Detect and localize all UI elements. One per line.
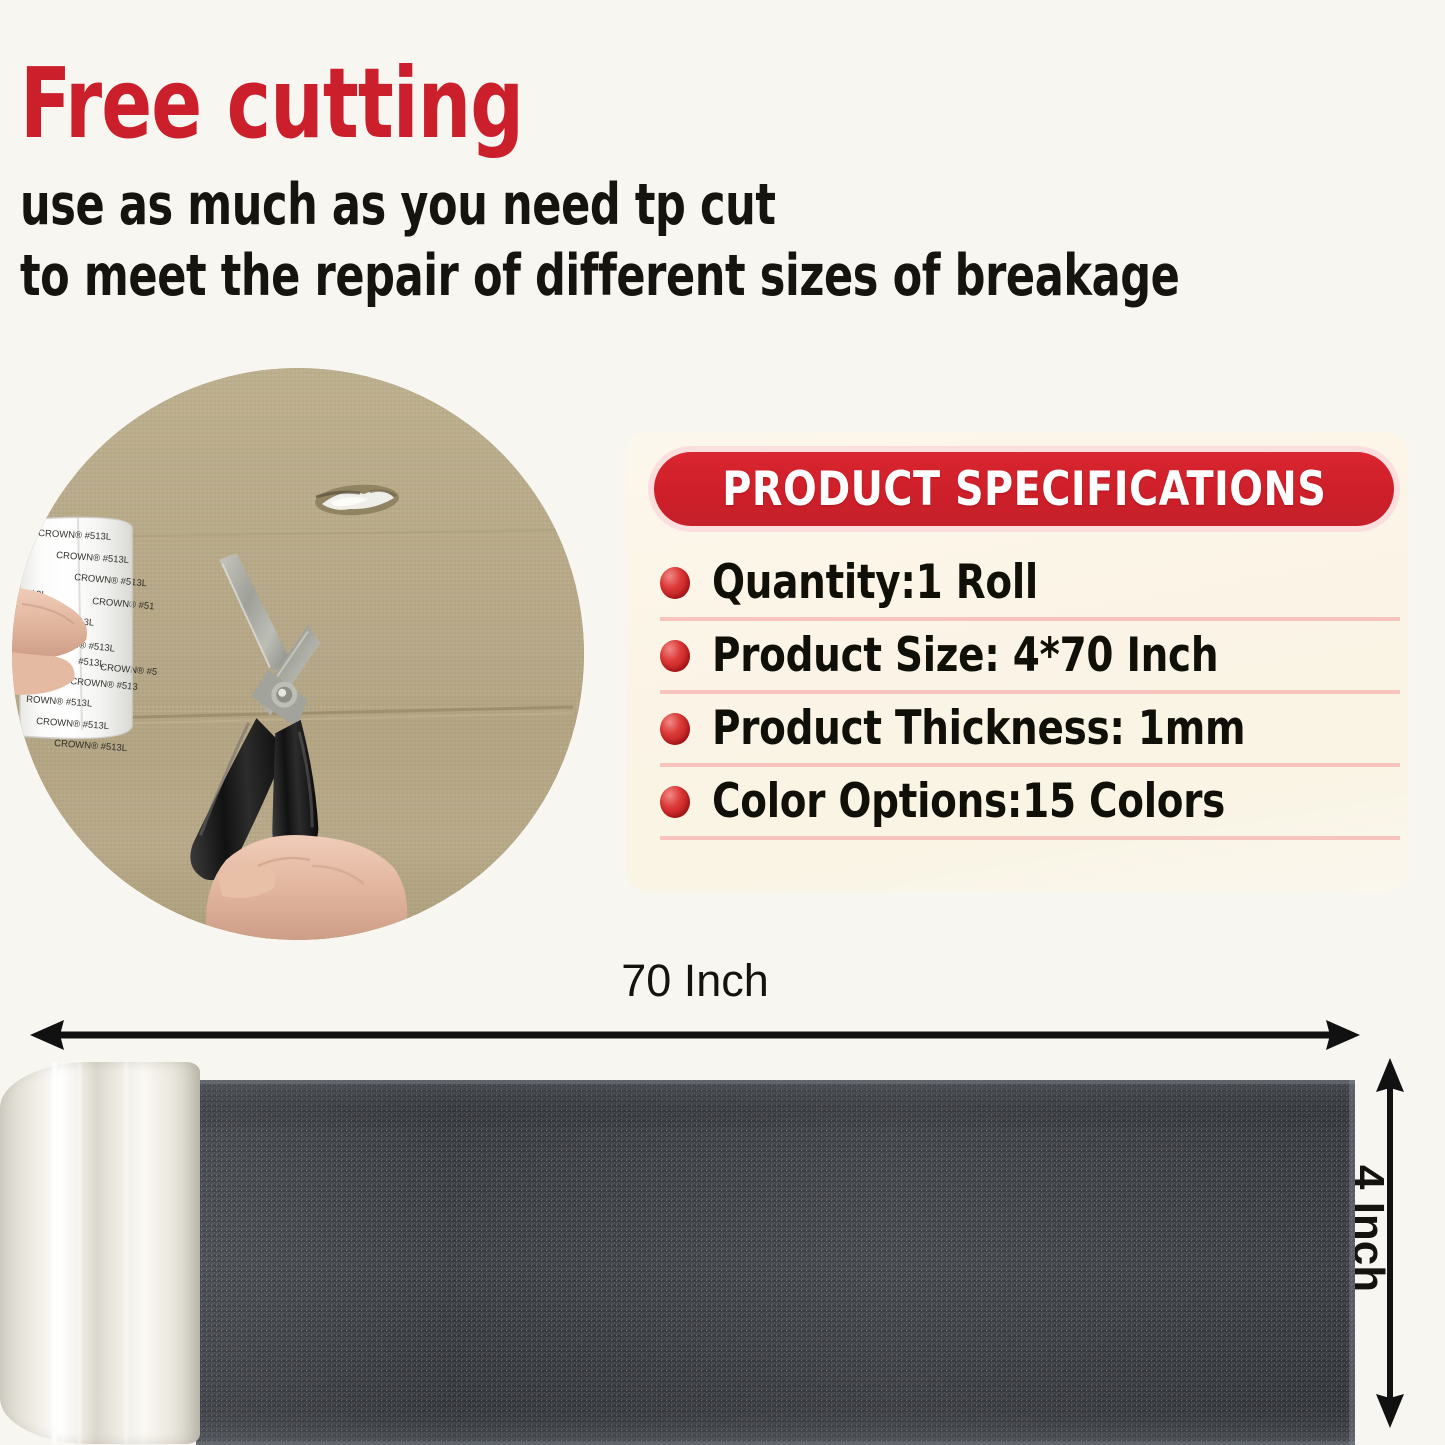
- spec-item-quantity: Quantity:1 Roll: [660, 548, 1400, 621]
- cutting-demo-photo: CROWN® #513L CROWN® #513L CROWN® #513L #…: [12, 368, 584, 940]
- subtitle-line-1: use as much as you need tp cut: [20, 170, 1213, 241]
- headline-block: Free cutting use as much as you need tp …: [20, 55, 1440, 311]
- product-strip: [0, 1060, 1360, 1445]
- spec-item-product-thickness: Product Thickness: 1mm: [660, 694, 1400, 767]
- specifications-header-label: PRODUCT SPECIFICATIONS: [722, 462, 1326, 517]
- spec-item-label: Product Size: 4*70 Inch: [712, 628, 1218, 683]
- spec-item-product-size: Product Size: 4*70 Inch: [660, 621, 1400, 694]
- length-dimension-label: 70 Inch: [0, 955, 1390, 1007]
- subtitle-line-2: to meet the repair of different sizes of…: [20, 241, 1213, 312]
- specifications-list: Quantity:1 Roll Product Size: 4*70 Inch …: [660, 548, 1400, 840]
- specifications-header: PRODUCT SPECIFICATIONS: [648, 446, 1400, 532]
- spec-item-label: Product Thickness: 1mm: [712, 701, 1245, 756]
- bullet-icon: [660, 713, 690, 745]
- specifications-header-pill: PRODUCT SPECIFICATIONS: [654, 452, 1394, 526]
- subtitle-block: use as much as you need tp cut to meet t…: [20, 170, 1440, 311]
- bullet-icon: [660, 567, 690, 599]
- page-title: Free cutting: [20, 55, 1241, 152]
- spec-item-label: Color Options:15 Colors: [712, 774, 1225, 829]
- tape-roll-end: [0, 1062, 200, 1444]
- bullet-icon: [660, 640, 690, 672]
- fabric-tape-surface: [196, 1080, 1355, 1445]
- cutting-demo-illustration: CROWN® #513L CROWN® #513L CROWN® #513L #…: [12, 368, 584, 940]
- spec-item-label: Quantity:1 Roll: [712, 555, 1038, 610]
- bullet-icon: [660, 786, 690, 818]
- length-dimension-arrow: [30, 1018, 1360, 1052]
- spec-item-color-options: Color Options:15 Colors: [660, 767, 1400, 840]
